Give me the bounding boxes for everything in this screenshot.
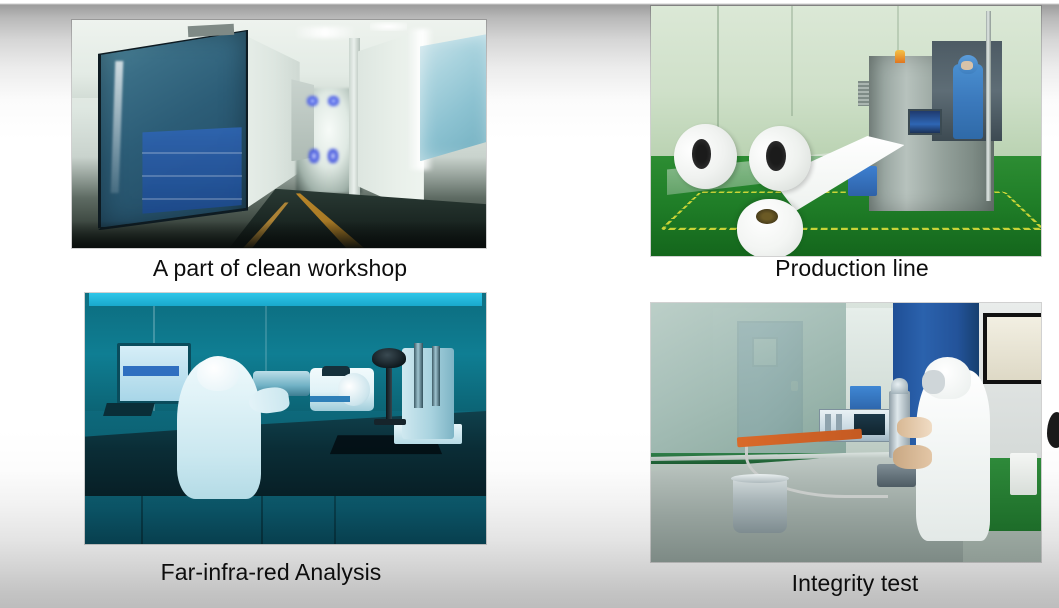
- operator-lower-arm: [893, 445, 932, 468]
- corridor-window: [420, 34, 486, 162]
- photo-integrity-test[interactable]: [651, 303, 1041, 562]
- vertical-support-pole: [986, 11, 991, 201]
- pellet-press: [402, 348, 454, 438]
- lab-ceiling-band: [89, 293, 482, 306]
- cabinet-seam-3: [334, 489, 336, 544]
- fabric-roll-1-core: [692, 139, 712, 169]
- spectrometer-label-strip: [310, 396, 350, 403]
- crate-seam-3: [142, 198, 241, 200]
- caption-far-infrared-analysis: Far-infra-red Analysis: [71, 559, 471, 586]
- technician-hood: [197, 356, 239, 391]
- ceiling-light-2-icon: [370, 22, 407, 31]
- slide-canvas: A part of clean workshop: [0, 0, 1059, 608]
- caption-clean-workshop: A part of clean workshop: [80, 255, 480, 282]
- photo-far-infrared-analysis[interactable]: [85, 293, 486, 544]
- fabric-roll-2-core: [766, 141, 786, 171]
- blue-led-light-2-icon: [327, 95, 340, 106]
- worker-face: [961, 61, 973, 70]
- door-sign-plate: [188, 23, 234, 37]
- warning-beacon-icon: [895, 50, 905, 63]
- photo-production-line[interactable]: [651, 6, 1041, 256]
- clean-workshop-scene: [72, 20, 486, 248]
- machine-hmi-screen: [908, 109, 941, 136]
- integrity-test-scene: [651, 303, 1041, 562]
- operator-face-mask: [922, 370, 945, 393]
- wall-framed-notice: [983, 313, 1042, 383]
- photo-clean-workshop[interactable]: [72, 20, 486, 248]
- keyboard: [103, 403, 155, 416]
- desk-lamp-base: [374, 419, 406, 426]
- desk-lamp-shade: [372, 348, 406, 368]
- operator-upper-arm: [897, 417, 932, 438]
- stainless-pot-rim: [731, 474, 790, 483]
- press-column-2: [432, 346, 440, 406]
- monitor-titlebar: [123, 366, 179, 376]
- wall-seam-2: [791, 6, 793, 116]
- production-line-scene: [651, 6, 1041, 256]
- blue-led-light-1-icon: [306, 95, 319, 106]
- blue-led-reflection-2: [327, 148, 339, 164]
- caption-production-line: Production line: [652, 255, 1052, 282]
- tester-vent-slot-1: [825, 414, 831, 432]
- blue-crate: [850, 386, 881, 412]
- worker-coverall: [953, 64, 983, 139]
- blue-crates-stack: [142, 127, 241, 214]
- stainless-pot: [733, 477, 788, 534]
- caption-integrity-test: Integrity test: [655, 570, 1055, 597]
- crate-seam-1: [142, 152, 241, 154]
- edge-cutoff-shape: [1047, 412, 1059, 448]
- press-column-1: [414, 343, 424, 408]
- corridor-floor-shadow: [72, 221, 486, 248]
- crate-seam-2: [142, 175, 241, 177]
- ceiling-light-icon: [296, 27, 354, 38]
- fabric-roll-3: [737, 199, 803, 257]
- far-infrared-scene: [85, 293, 486, 544]
- blue-led-reflection-1: [308, 148, 320, 164]
- white-jug: [1010, 453, 1037, 494]
- desk-lamp-arm: [386, 366, 392, 421]
- fabric-roll-3-core: [756, 209, 777, 224]
- filter-housing-valve: [891, 378, 909, 394]
